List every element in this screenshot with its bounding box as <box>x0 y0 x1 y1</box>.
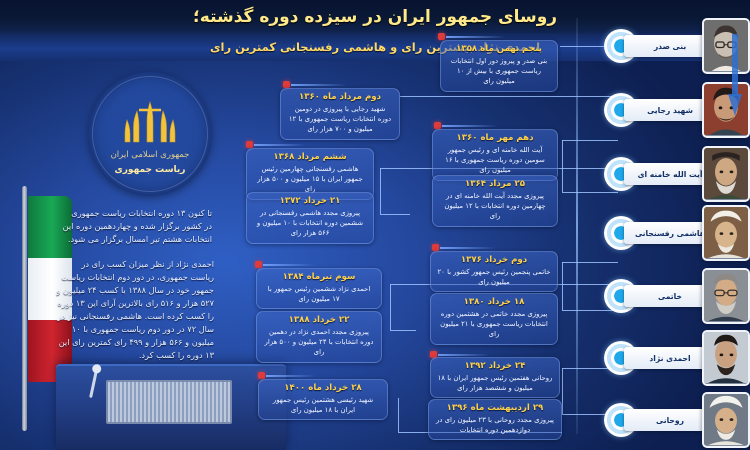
portrait-image <box>704 332 748 383</box>
connector-line <box>562 140 618 141</box>
connector-line <box>380 214 410 215</box>
timeline-card[interactable]: دوم خرداد ۱۳۷۶ خاتمی پنجمین رئیس جمهور ک… <box>430 251 558 292</box>
timeline-card-date: ۲۱ خرداد ۱۳۷۲ <box>253 196 367 207</box>
portrait-rajaei <box>702 82 750 138</box>
president-name: روحانی <box>656 416 684 425</box>
timeline-card-body: پیروزی مجدد روحانی با ۲۳ میلیون رای در د… <box>435 415 555 436</box>
timeline-card-body: پیروزی مجدد خاتمی در هشتمین دوره انتخابا… <box>437 309 551 340</box>
timeline-card[interactable]: ۲۲ خرداد ۱۳۸۸ پیروزی مجدد احمدی نژاد در … <box>256 311 382 363</box>
president-name: بنی صدر <box>654 42 686 51</box>
timeline-marker <box>255 261 262 268</box>
timeline-card[interactable]: دهم مهر ماه ۱۳۶۰ آیت الله خامنه ای و رئی… <box>432 129 558 181</box>
connector-line <box>380 168 381 214</box>
timeline-marker <box>246 141 253 148</box>
emblem: جمهوری اسلامی ایران ریاست جمهوری <box>88 72 212 196</box>
portrait-image <box>704 394 748 445</box>
timeline-card-date: ۲۹ اردیبهشت ماه ۱۳۹۶ <box>435 403 555 414</box>
emblem-line2: ریاست جمهوری <box>88 165 212 175</box>
president-node[interactable]: هاشمی رفسنجانی <box>598 205 750 261</box>
connector-line <box>390 330 416 331</box>
president-node[interactable]: آیت الله خامنه ای <box>598 146 750 202</box>
connector-line <box>562 368 563 414</box>
president-name: شهید رجایی <box>647 106 693 115</box>
timeline-rule <box>291 84 347 86</box>
microphone-icon <box>89 370 98 398</box>
timeline-card-date: ۲۴ خرداد ۱۳۹۲ <box>437 361 553 372</box>
timeline-marker <box>434 122 441 129</box>
president-name: آیت الله خامنه ای <box>638 170 703 179</box>
timeline-card[interactable]: دوم مرداد ماه ۱۳۶۰ شهید رجایی با پیروزی … <box>280 88 400 140</box>
president-node[interactable]: احمدی نژاد <box>598 330 750 386</box>
flag-pole <box>22 186 27 431</box>
president-name: احمدی نژاد <box>649 354 690 363</box>
timeline-card-date: ۲۸ خرداد ماه ۱۴۰۰ <box>265 383 381 394</box>
timeline-card-date: پنجم بهمن ماه ۱۳۵۸ <box>447 44 551 55</box>
timeline-rule <box>438 354 490 356</box>
timeline-rule <box>446 36 506 38</box>
portrait-image <box>704 270 748 321</box>
desk-panel <box>106 380 232 424</box>
portrait-rouhani <box>702 392 750 448</box>
timeline-card[interactable]: ۱۸ خرداد ۱۳۸۰ پیروزی مجدد خاتمی در هشتمی… <box>430 293 558 345</box>
connector-line <box>398 398 399 432</box>
timeline-rule <box>254 144 306 146</box>
timeline-marker <box>258 372 265 379</box>
podium-desk <box>56 364 286 450</box>
portrait-rafsanjani <box>702 205 750 261</box>
connector-line <box>562 262 563 310</box>
intro-paragraph-2: احمدی نژاد از نظر میزان کسب رای در ریاست… <box>56 258 214 362</box>
portrait-khamenei <box>702 146 750 202</box>
portrait-image <box>704 207 748 258</box>
connector-line <box>562 140 563 192</box>
timeline-marker <box>283 81 290 88</box>
emblem-line1: جمهوری اسلامی ایران <box>88 150 212 160</box>
timeline-card[interactable]: پنجم بهمن ماه ۱۳۵۸ بنی صدر و پیروز دور ا… <box>440 40 558 92</box>
portrait-image <box>704 148 748 199</box>
connector-line <box>400 96 612 97</box>
timeline-rule <box>266 375 316 377</box>
timeline-card-body: بنی صدر و پیروز دور اول انتخابات ریاست ج… <box>447 56 551 87</box>
page-title: روسای جمهور ایران در سیزده دوره گذشته؛ <box>193 7 557 27</box>
timeline-card-date: ۲۲ خرداد ۱۳۸۸ <box>263 315 375 326</box>
timeline-card[interactable]: ۲۹ اردیبهشت ماه ۱۳۹۶ پیروزی مجدد روحانی … <box>428 399 562 440</box>
timeline-card-body: خاتمی پنجمین رئیس جمهور کشور با ۲۰ میلیو… <box>437 267 551 288</box>
timeline-card[interactable]: ۲۴ خرداد ۱۳۹۲ روحانی هفتمین رئیس جمهور ا… <box>430 357 560 398</box>
timeline-card-body: پیروزی مجدد هاشمی رفسنجانی در ششمین دوره… <box>253 208 367 239</box>
timeline-marker <box>432 244 439 251</box>
president-name: هاشمی رفسنجانی <box>635 229 705 238</box>
timeline-card-date: ششم مرداد ۱۳۶۸ <box>253 152 367 163</box>
timeline-card[interactable]: ۲۸ خرداد ماه ۱۴۰۰ شهید رئیسی هشتمین رئیس… <box>258 379 388 420</box>
portrait-banisadr <box>702 18 750 74</box>
timeline-vertical-rail <box>576 18 578 434</box>
connector-line <box>390 284 391 330</box>
president-name: خاتمی <box>658 292 682 301</box>
timeline-card[interactable]: ۲۱ خرداد ۱۳۷۲ پیروزی مجدد هاشمی رفسنجانی… <box>246 192 374 244</box>
president-node[interactable]: روحانی <box>598 392 750 448</box>
timeline-card-date: دوم مرداد ماه ۱۳۶۰ <box>287 92 393 103</box>
timeline-card-body: روحانی هفتمین رئیس جمهور ایران با ۱۸ میل… <box>437 373 553 394</box>
timeline-rule <box>263 264 315 266</box>
timeline-rule <box>442 125 498 127</box>
timeline-card-date: ۲۵ مرداد ۱۳۶۴ <box>439 179 551 190</box>
timeline-card[interactable]: ۲۵ مرداد ۱۳۶۴ پیروزی مجدد آیت الله خامنه… <box>432 175 558 227</box>
timeline-card-body: پیروزی مجدد احمدی نژاد در دهمین دوره انت… <box>263 327 375 358</box>
timeline-card[interactable]: سوم تیرماه ۱۳۸۴ احمدی نژاد ششمین رئیس جم… <box>256 268 382 309</box>
flow-direction-arrow-icon <box>728 34 742 118</box>
timeline-card-body: آیت الله خامنه ای و رئیس جمهور سومین دور… <box>439 145 551 176</box>
president-node[interactable]: خاتمی <box>598 268 750 324</box>
timeline-card-body: شهید رئیسی هشتمین رئیس جمهور ایران با ۱۸… <box>265 395 381 416</box>
timeline-rule <box>440 247 496 249</box>
timeline-card-date: دوم خرداد ۱۳۷۶ <box>437 255 551 266</box>
timeline-card-body: شهید رجایی با پیروزی در دومین دوره انتخا… <box>287 104 393 135</box>
infographic-canvas: روسای جمهور ایران در سیزده دوره گذشته؛ ا… <box>0 0 750 450</box>
timeline-card-date: ۱۸ خرداد ۱۳۸۰ <box>437 297 551 308</box>
timeline-card-date: سوم تیرماه ۱۳۸۴ <box>263 272 375 283</box>
timeline-card-body: هاشمی رفسنجانی چهارمین رئیس جمهور ایران … <box>253 164 367 195</box>
iran-emblem-icon <box>119 98 181 148</box>
connector-line <box>562 262 618 263</box>
timeline-card-body: احمدی نژاد ششمین رئیس جمهور با ۱۷ میلیون… <box>263 284 375 305</box>
portrait-khatami <box>702 268 750 324</box>
timeline-marker <box>438 33 445 40</box>
portrait-ahmadinejad <box>702 330 750 386</box>
timeline-card-body: پیروزی مجدد آیت الله خامنه ای در چهارمین… <box>439 191 551 222</box>
intro-paragraph-1: تا کنون ۱۳ دوره انتخابات ریاست جمهوری در… <box>62 207 212 246</box>
timeline-card-date: دهم مهر ماه ۱۳۶۰ <box>439 133 551 144</box>
